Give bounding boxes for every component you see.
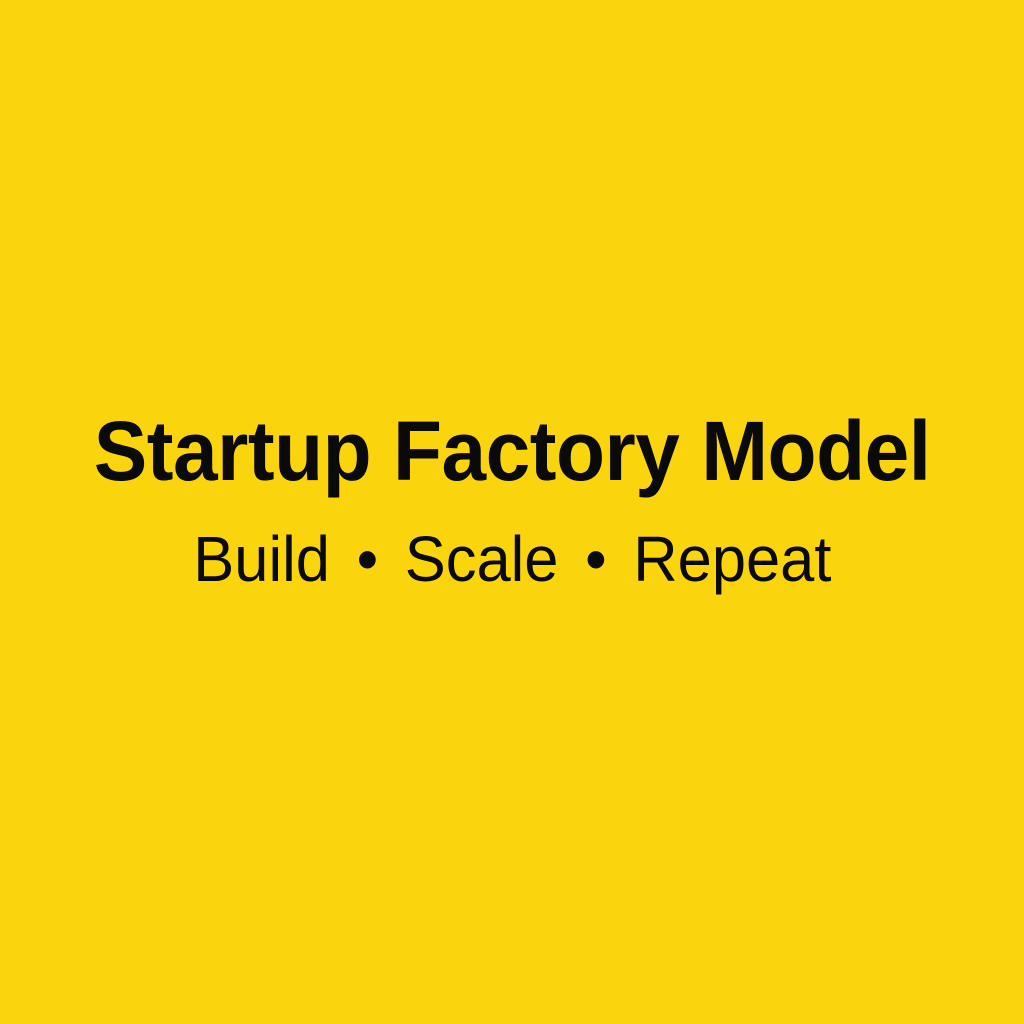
subtitle-word-repeat: Repeat	[633, 527, 831, 591]
subtitle-word-build: Build	[193, 527, 330, 591]
bullet-separator-icon: •	[575, 527, 616, 591]
slide-canvas: Startup Factory Model Build • Scale • Re…	[0, 0, 1024, 1024]
bullet-separator-icon: •	[347, 527, 388, 591]
page-title: Startup Factory Model	[94, 409, 931, 493]
subtitle-word-scale: Scale	[404, 527, 558, 591]
title-block: Startup Factory Model Build • Scale • Re…	[0, 0, 1024, 1024]
page-subtitle: Build • Scale • Repeat	[193, 527, 831, 591]
